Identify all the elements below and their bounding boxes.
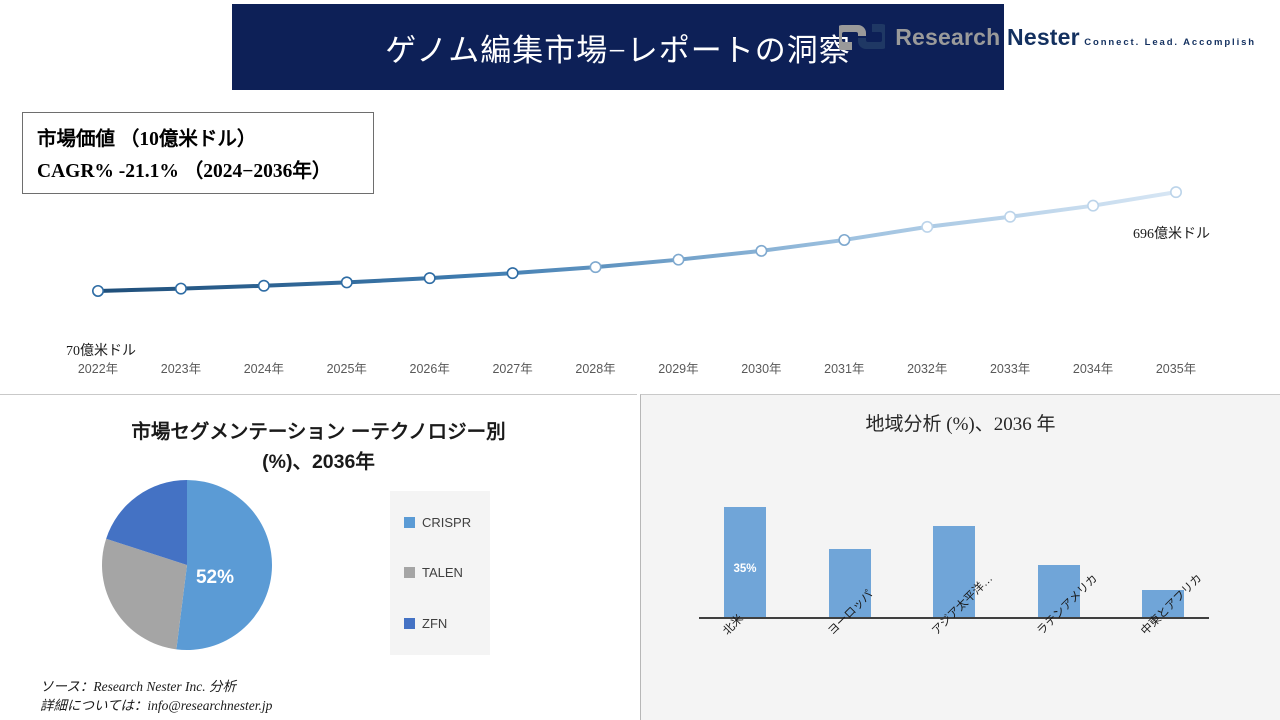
line-start-annotation: 70億米ドル <box>66 340 136 360</box>
market-value-info-box: 市場価値 （10億米ドル） CAGR% -21.1% （2024−2036年） <box>22 112 374 194</box>
bar-category-slot: 北米 <box>715 619 775 709</box>
market-value-label: 市場価値 （10億米ドル） <box>37 124 373 156</box>
line-data-point <box>93 286 103 296</box>
pie-slice-label: 52% <box>196 567 234 588</box>
legend-item-crispr[interactable]: CRISPR <box>404 515 490 530</box>
pie-title-line2: (%)、2036年 <box>0 447 637 477</box>
x-axis-tick-label: 2027年 <box>492 358 532 377</box>
x-axis-tick-label: 2026年 <box>410 358 450 377</box>
pie-slice-crispr <box>176 480 272 650</box>
infographic-page: ゲノム編集市場−レポートの洞察 Research Nester Connect.… <box>0 0 1280 720</box>
legend-swatch-icon <box>404 567 415 578</box>
bar-category-slot: ヨーロッパ <box>820 619 880 709</box>
x-axis-tick-label: 2022年 <box>78 358 118 377</box>
pie-legend: CRISPRTALENZFN <box>390 491 490 655</box>
segmentation-panel: 市場セグメンテーション ーテクノロジー別 (%)、2036年 52% CRISP… <box>0 394 637 720</box>
x-axis-tick-label: 2024年 <box>244 358 284 377</box>
legend-item-talen[interactable]: TALEN <box>404 565 490 580</box>
legend-label: CRISPR <box>422 515 471 530</box>
legend-item-zfn[interactable]: ZFN <box>404 616 490 631</box>
source-line-2: 詳細については：info@researchnester.jp <box>40 696 272 716</box>
bar-category-slot: アジア太平洋… <box>924 619 984 709</box>
line-data-point <box>756 246 766 256</box>
logo-name-research: Research <box>895 24 1007 50</box>
line-data-point <box>1088 200 1098 210</box>
page-title: ゲノム編集市場−レポートの洞察 <box>385 25 851 70</box>
line-chart-x-axis: 2022年2023年2024年2025年2026年2027年2028年2029年… <box>0 358 1280 380</box>
x-axis-tick-label: 2025年 <box>327 358 367 377</box>
line-end-annotation: 696億米ドル <box>1133 223 1210 243</box>
line-data-point <box>922 222 932 232</box>
x-axis-tick-label: 2029年 <box>658 358 698 377</box>
logo-name-nester: Nester <box>1007 24 1080 50</box>
bar-chart-category-labels: 北米ヨーロッパアジア太平洋…ラテンアメリカ中東とアフリカ <box>699 619 1209 709</box>
source-note: ソース：Research Nester Inc. 分析 詳細については：info… <box>40 677 272 716</box>
legend-label: TALEN <box>422 565 463 580</box>
brand-logo: Research Nester Connect. Lead. Accomplis… <box>839 20 1256 54</box>
x-axis-tick-label: 2028年 <box>575 358 615 377</box>
line-data-point <box>839 235 849 245</box>
bar-value-label: 35% <box>733 563 756 575</box>
line-data-point <box>1171 187 1181 197</box>
line-data-point <box>176 283 186 293</box>
bar-0: 35% <box>724 507 766 619</box>
source-line-1: ソース：Research Nester Inc. 分析 <box>40 677 272 697</box>
line-data-point <box>342 277 352 287</box>
logo-text: Research Nester Connect. Lead. Accomplis… <box>895 26 1256 49</box>
pie-chart-svg: 52% <box>88 479 286 651</box>
x-axis-tick-label: 2035年 <box>1156 358 1196 377</box>
line-data-point <box>424 273 434 283</box>
line-data-point <box>673 254 683 264</box>
line-data-point <box>590 262 600 272</box>
pie-chart-title: 市場セグメンテーション ーテクノロジー別 (%)、2036年 <box>0 417 637 477</box>
pie-title-line1: 市場セグメンテーション ーテクノロジー別 <box>0 417 637 447</box>
x-axis-tick-label: 2034年 <box>1073 358 1113 377</box>
x-axis-tick-label: 2032年 <box>907 358 947 377</box>
bar-category-slot: ラテンアメリカ <box>1029 619 1089 709</box>
legend-swatch-icon <box>404 618 415 629</box>
legend-label: ZFN <box>422 616 447 631</box>
x-axis-tick-label: 2030年 <box>741 358 781 377</box>
bar-chart-title: 地域分析 (%)、2036 年 <box>641 409 1280 436</box>
logo-tagline: Connect. Lead. Accomplish <box>1084 37 1256 48</box>
regional-analysis-panel: 地域分析 (%)、2036 年 35% 北米ヨーロッパアジア太平洋…ラテンアメリ… <box>640 394 1280 720</box>
x-axis-tick-label: 2033年 <box>990 358 1030 377</box>
bar-category-slot: 中東とアフリカ <box>1133 619 1193 709</box>
line-data-point <box>1005 212 1015 222</box>
bar-slot: 35% <box>715 489 775 619</box>
x-axis-tick-label: 2031年 <box>824 358 864 377</box>
logo-mark-icon <box>839 20 885 54</box>
legend-swatch-icon <box>404 517 415 528</box>
x-axis-tick-label: 2023年 <box>161 358 201 377</box>
cagr-label: CAGR% -21.1% （2024−2036年） <box>37 156 373 188</box>
logo-name: Research Nester <box>895 24 1080 50</box>
technology-pie-chart: 52% <box>88 479 286 651</box>
line-data-point <box>259 281 269 291</box>
line-data-point <box>507 268 517 278</box>
